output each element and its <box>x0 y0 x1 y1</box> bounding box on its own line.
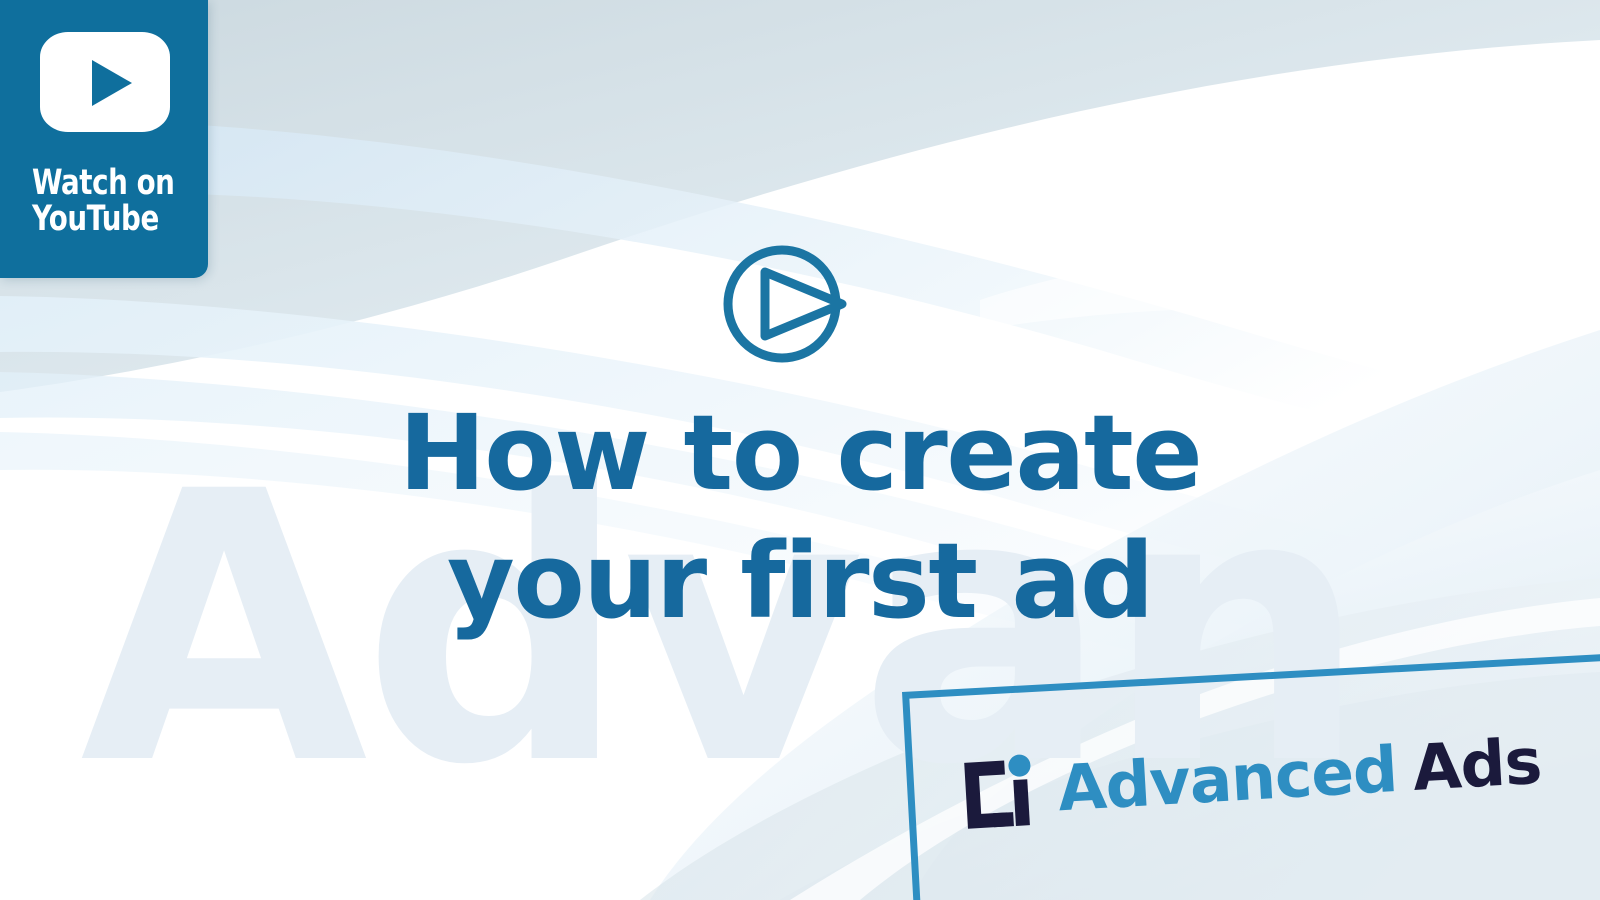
advanced-ads-wordmark: AdvancedAds <box>1056 729 1543 820</box>
play-circle-icon[interactable] <box>718 242 858 366</box>
watch-on-youtube-label: Watch on YouTube <box>32 166 174 237</box>
brand-word-advanced: Advanced <box>1056 732 1399 824</box>
youtube-play-icon <box>40 32 170 132</box>
video-thumbnail-slide: Advan AdvancedAds How to create <box>0 0 1600 900</box>
watch-on-youtube-badge[interactable]: Watch on YouTube <box>0 0 208 278</box>
page-title: How to create your first ad <box>0 390 1600 646</box>
brand-word-ads: Ads <box>1411 724 1543 804</box>
advanced-ads-mark-icon <box>960 749 1035 835</box>
